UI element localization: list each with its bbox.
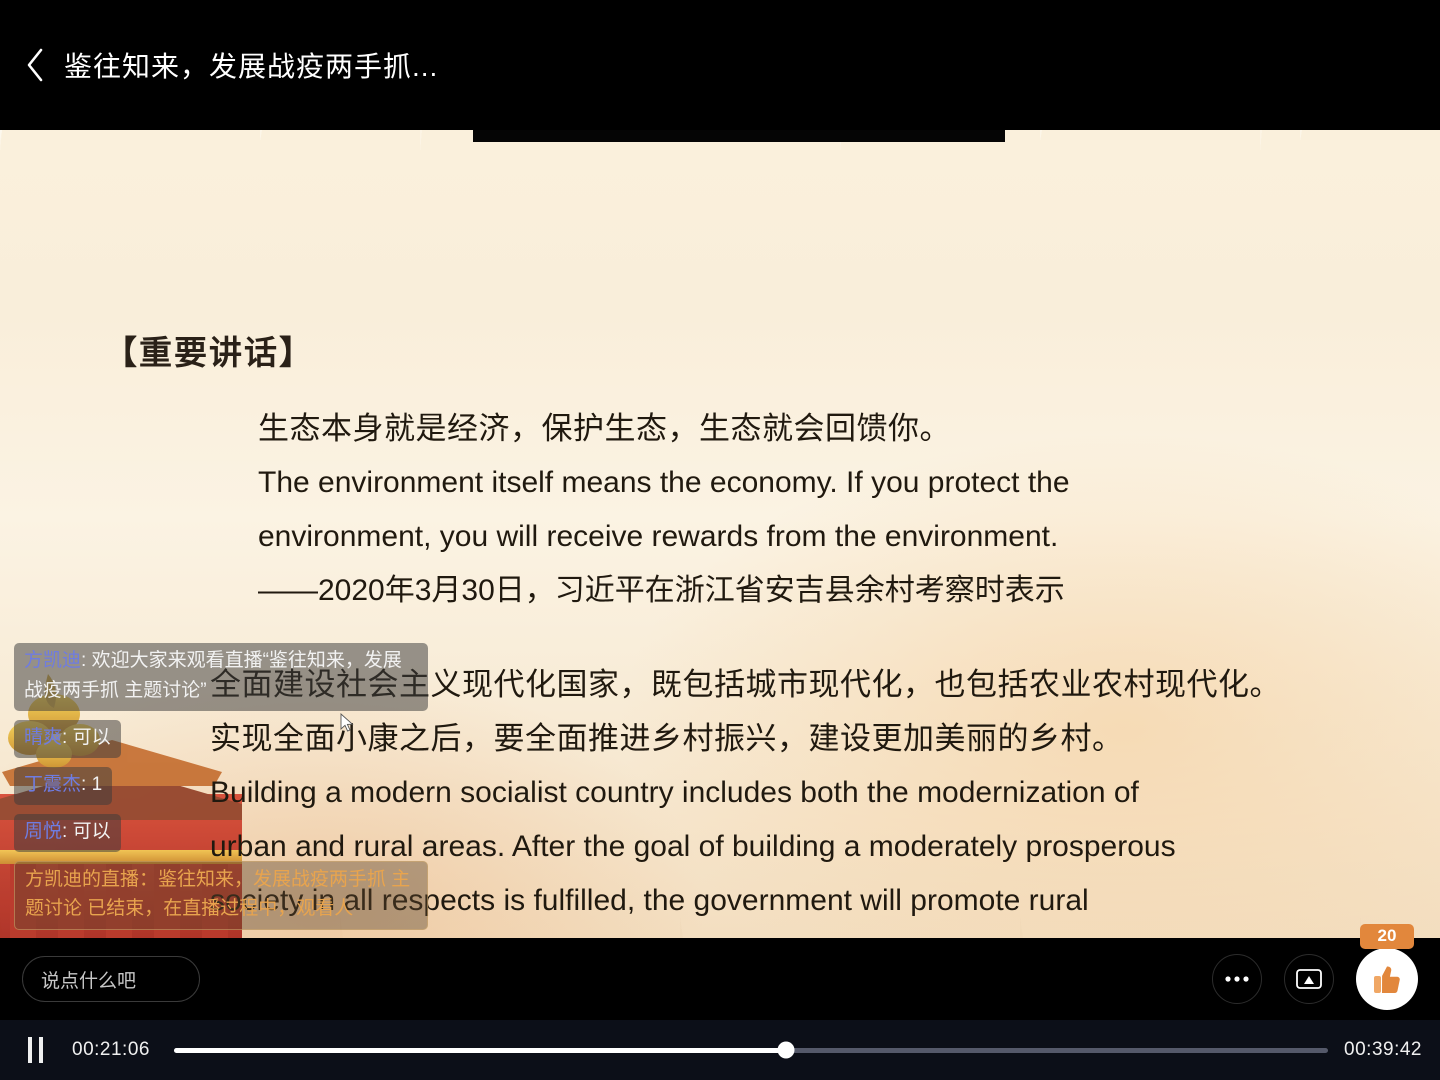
chat-colon: : — [81, 774, 92, 795]
quote-block-1: 生态本身就是经济，保护生态，生态就会回馈你。 The environment i… — [258, 402, 1258, 618]
chat-username: 丁震杰 — [24, 774, 81, 795]
video-surface[interactable]: 【重要讲话】 生态本身就是经济，保护生态，生态就会回馈你。 The enviro… — [0, 130, 1440, 938]
thumbs-up-icon[interactable] — [1356, 948, 1418, 1010]
chat-overlay: 方凯迪: 欢迎大家来观看直播“鉴往知来，发展战疫两手抓 主题讨论” 晴爽: 可以… — [14, 643, 444, 930]
chat-colon: : — [62, 821, 73, 842]
chat-message: 晴爽: 可以 — [14, 720, 121, 758]
progress-track[interactable] — [174, 1048, 1328, 1053]
chat-colon: : — [62, 727, 73, 748]
total-time: 00:39:42 — [1344, 1039, 1422, 1061]
chat-colon: : — [81, 650, 92, 671]
like-control: 20 — [1356, 948, 1418, 1010]
chat-input[interactable]: 说点什么吧 — [22, 956, 200, 1002]
page-title: 鉴往知来，发展战疫两手抓... — [64, 45, 438, 85]
chat-system-message: 方凯迪的直播：鉴往知来，发展战疫两手抓 主题讨论 已结束，在直播过程中，观看人 — [14, 861, 428, 930]
right-controls: 20 — [1212, 948, 1440, 1010]
top-bar: 鉴往知来，发展战疫两手抓... — [0, 0, 1440, 130]
live-replay-player: 鉴往知来，发展战疫两手抓... — [0, 0, 1440, 1080]
chat-username: 周悦 — [24, 821, 62, 842]
chat-text: 1 — [92, 774, 103, 795]
seek-bar: 00:21:06 00:39:42 — [0, 1020, 1440, 1080]
like-count-badge: 20 — [1360, 924, 1414, 949]
bottom-control-bar: 说点什么吧 20 — [0, 938, 1440, 1020]
chat-username: 方凯迪 — [24, 650, 81, 671]
chat-message: 周悦: 可以 — [14, 814, 121, 852]
chat-username: 晴爽 — [24, 727, 62, 748]
quote1-english-line1: The environment itself means the economy… — [258, 456, 1258, 510]
slide-heading: 【重要讲话】 — [104, 326, 314, 374]
pause-icon[interactable] — [18, 1035, 52, 1065]
chat-text: 可以 — [73, 727, 111, 748]
letterbox-notch — [473, 130, 1005, 142]
quote1-chinese: 生态本身就是经济，保护生态，生态就会回馈你。 — [258, 402, 1258, 456]
chat-message: 方凯迪: 欢迎大家来观看直播“鉴往知来，发展战疫两手抓 主题讨论” — [14, 643, 428, 711]
quote1-english-line2: environment, you will receive rewards fr… — [258, 510, 1258, 564]
progress-filled — [174, 1048, 786, 1053]
quote1-source: ——2020年3月30日，习近平在浙江省安吉县余村考察时表示 — [258, 564, 1258, 618]
chat-message: 丁震杰: 1 — [14, 767, 112, 805]
chevron-left-icon[interactable] — [18, 42, 52, 88]
progress-knob[interactable] — [777, 1042, 794, 1059]
screen-cast-icon[interactable] — [1284, 954, 1334, 1004]
more-dots-icon[interactable] — [1212, 954, 1262, 1004]
current-time: 00:21:06 — [72, 1039, 150, 1061]
chat-text: 可以 — [73, 821, 111, 842]
